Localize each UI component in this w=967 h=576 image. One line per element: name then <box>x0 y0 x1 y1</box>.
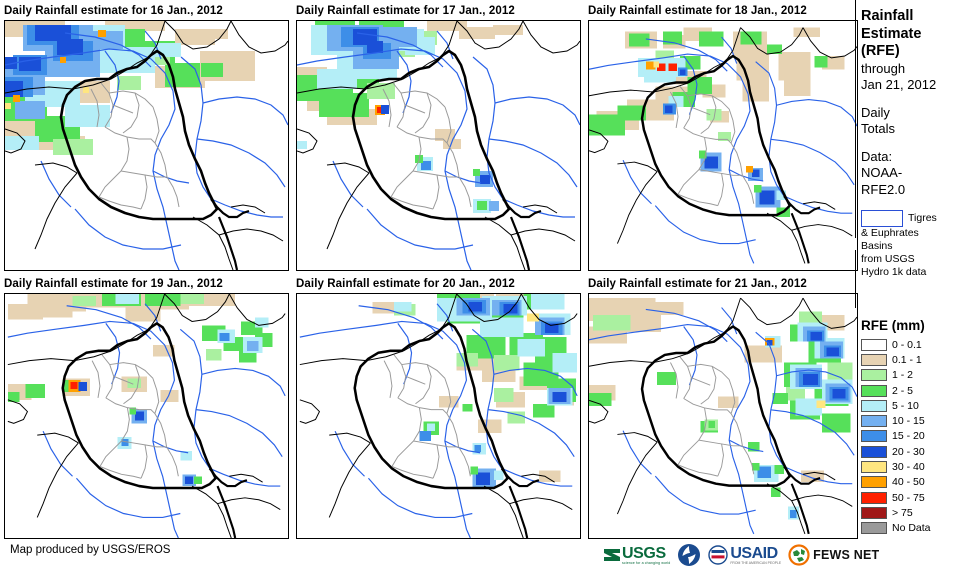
legend-row: 0 - 0.1 <box>861 337 967 352</box>
usaid-seal-icon <box>708 545 728 565</box>
legend-label: 1 - 2 <box>892 369 913 381</box>
legend-label: 0 - 0.1 <box>892 339 922 351</box>
map-panel-21jan: Daily Rainfall estimate for 21 Jan., 201… <box>588 277 858 539</box>
rainfall-raster-18jan <box>589 21 857 270</box>
legend-label: 0.1 - 1 <box>892 354 922 366</box>
map-frame[interactable] <box>588 293 858 539</box>
rfe-period-block: Daily Totals <box>861 105 967 138</box>
rfe-through-date: Jan 21, 2012 <box>861 77 967 94</box>
legend-swatch <box>861 446 887 458</box>
legend-label: 10 - 15 <box>892 415 925 427</box>
legend-label: 5 - 10 <box>892 400 919 412</box>
map-canvas[interactable] <box>589 21 857 270</box>
map-panel-17jan: Daily Rainfall estimate for 17 Jan., 201… <box>296 4 581 271</box>
legend-label: 20 - 30 <box>892 446 925 458</box>
map-frame[interactable] <box>296 20 581 271</box>
sidebar-divider-bottom <box>855 250 856 308</box>
legend-row: 10 - 15 <box>861 413 967 428</box>
rfe-period-line2: Totals <box>861 121 967 138</box>
legend-swatch <box>861 369 887 381</box>
rfe-data-source-line2: NOAA- <box>861 165 967 182</box>
fews-net-logo-text: FEWS NET <box>813 548 879 562</box>
rfe-title-line2: Estimate <box>861 26 967 44</box>
legend-label: 30 - 40 <box>892 461 925 473</box>
map-frame[interactable] <box>4 20 289 271</box>
legend-row: > 75 <box>861 505 967 520</box>
basin-legend-key: Tigres & Euphrates Basins from USGS Hydr… <box>861 210 967 279</box>
rainfall-raster-17jan <box>297 21 580 270</box>
panel-title: Daily Rainfall estimate for 19 Jan., 201… <box>4 277 289 292</box>
rfe-color-legend: RFE (mm) 0 - 0.10.1 - 11 - 22 - 55 - 101… <box>861 318 967 536</box>
basin-label-line5: Hydro 1k data <box>861 266 967 279</box>
map-canvas[interactable] <box>589 294 857 538</box>
rfe-period-line1: Daily <box>861 105 967 122</box>
legend-swatch <box>861 507 887 519</box>
legend-row: No Data <box>861 521 967 536</box>
basin-label-line2: & Euphrates <box>861 227 967 240</box>
legend-label: > 75 <box>892 507 913 519</box>
usgs-logo-tagline: science for a changing world <box>622 561 670 565</box>
legend-swatch <box>861 430 887 442</box>
usaid-logo[interactable]: USAID FROM THE AMERICAN PEOPLE <box>708 542 781 568</box>
basin-outline-swatch <box>861 210 903 227</box>
legend-row: 50 - 75 <box>861 490 967 505</box>
legend-swatch <box>861 339 887 351</box>
legend-row: 20 - 30 <box>861 444 967 459</box>
map-canvas[interactable] <box>297 294 580 538</box>
rfe-title-line1: Rainfall <box>861 8 967 26</box>
legend-title: RFE (mm) <box>861 318 967 333</box>
legend-row: 5 - 10 <box>861 398 967 413</box>
rainfall-raster-19jan <box>5 294 288 538</box>
legend-row: 0.1 - 1 <box>861 352 967 367</box>
rfe-title-line3: (RFE) <box>861 43 967 61</box>
fews-net-globe-icon <box>788 544 810 566</box>
map-frame[interactable] <box>588 20 858 271</box>
panel-title: Daily Rainfall estimate for 18 Jan., 201… <box>588 4 858 19</box>
map-panel-18jan: Daily Rainfall estimate for 18 Jan., 201… <box>588 4 858 271</box>
legend-swatch <box>861 522 887 534</box>
usgs-logo-text: USGS <box>622 546 670 561</box>
fews-net-logo[interactable]: FEWS NET <box>788 542 879 568</box>
rfe-data-source-block: Data: NOAA- RFE2.0 <box>861 149 967 199</box>
legend-swatch <box>861 385 887 397</box>
basin-label-line3: Basins <box>861 240 967 253</box>
rainfall-raster-16jan <box>5 21 288 270</box>
map-canvas[interactable] <box>5 294 288 538</box>
rainfall-raster-21jan <box>589 294 857 538</box>
legend-swatch <box>861 354 887 366</box>
usaid-logo-tagline: FROM THE AMERICAN PEOPLE <box>730 561 781 565</box>
rfe-through-label: through <box>861 61 967 78</box>
legend-row: 15 - 20 <box>861 429 967 444</box>
legend-label: 2 - 5 <box>892 385 913 397</box>
map-frame[interactable] <box>296 293 581 539</box>
map-canvas[interactable] <box>5 21 288 270</box>
legend-label: 15 - 20 <box>892 430 925 442</box>
panel-title: Daily Rainfall estimate for 17 Jan., 201… <box>296 4 581 19</box>
legend-label: No Data <box>892 522 931 534</box>
noaa-logo[interactable] <box>677 542 701 568</box>
legend-label: 50 - 75 <box>892 492 925 504</box>
legend-row: 1 - 2 <box>861 368 967 383</box>
legend-swatch <box>861 400 887 412</box>
legend-swatch <box>861 476 887 488</box>
legend-row: 40 - 50 <box>861 475 967 490</box>
usgs-logo[interactable]: USGS science for a changing world <box>603 542 670 568</box>
panel-title: Daily Rainfall estimate for 16 Jan., 201… <box>4 4 289 19</box>
legend-swatch <box>861 492 887 504</box>
legend-swatch <box>861 461 887 473</box>
legend-rows: 0 - 0.10.1 - 11 - 22 - 55 - 1010 - 1515 … <box>861 337 967 536</box>
rfe-title-block: Rainfall Estimate (RFE) through Jan 21, … <box>861 8 967 94</box>
rainfall-raster-20jan <box>297 294 580 538</box>
panel-title: Daily Rainfall estimate for 20 Jan., 201… <box>296 277 581 292</box>
agency-logos: USGS science for a changing world USAID … <box>603 541 879 569</box>
map-panel-20jan: Daily Rainfall estimate for 20 Jan., 201… <box>296 277 581 539</box>
rfe-data-source-line3: RFE2.0 <box>861 182 967 199</box>
map-legend-sidebar: Rainfall Estimate (RFE) through Jan 21, … <box>861 0 967 576</box>
legend-swatch <box>861 415 887 427</box>
rfe-map-page: Daily Rainfall estimate for 16 Jan., 201… <box>0 0 967 576</box>
legend-row: 2 - 5 <box>861 383 967 398</box>
noaa-seal-icon <box>677 543 701 567</box>
basin-label-line4: from USGS <box>861 253 967 266</box>
legend-row: 30 - 40 <box>861 459 967 474</box>
sidebar-divider-top <box>855 0 856 238</box>
map-panel-19jan: Daily Rainfall estimate for 19 Jan., 201… <box>4 277 289 539</box>
usaid-logo-text: USAID <box>730 546 781 561</box>
usgs-mark-icon <box>603 547 621 563</box>
map-panel-16jan: Daily Rainfall estimate for 16 Jan., 201… <box>4 4 289 271</box>
map-frame[interactable] <box>4 293 289 539</box>
map-canvas[interactable] <box>297 21 580 270</box>
map-credit: Map produced by USGS/EROS <box>10 544 170 556</box>
legend-label: 40 - 50 <box>892 476 925 488</box>
basin-label-inline: Tigres <box>908 212 937 225</box>
panel-title: Daily Rainfall estimate for 21 Jan., 201… <box>588 277 858 292</box>
rfe-data-label: Data: <box>861 149 967 166</box>
